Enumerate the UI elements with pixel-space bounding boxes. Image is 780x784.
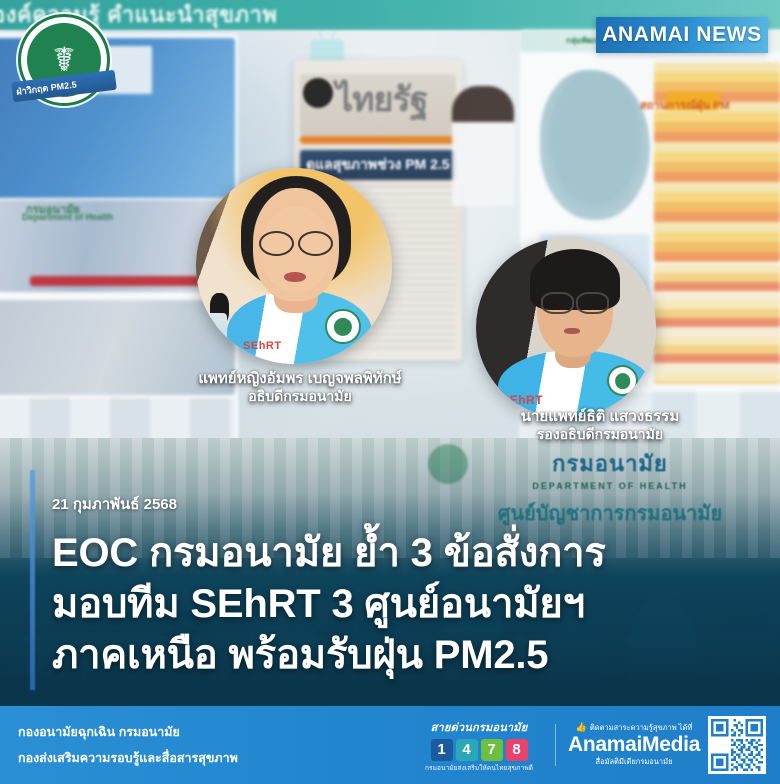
media-subtitle: สื่อมัลติมีเดียกรมอนามัย xyxy=(568,756,700,768)
headline-line-3: ภาคเหนือ พร้อมรับฝุ่น PM2.5 xyxy=(52,630,712,681)
hotline-subtitle: กรมอนามัยส่งเสริมให้คนไทยสุขภาพดี xyxy=(417,763,541,773)
hotline-digit-4: 8 xyxy=(506,739,528,761)
speaker-2-name: นายแพทย์ธิติ แสวงธรรม xyxy=(470,408,730,426)
headline-line-2: มอบทีม SEhRT 3 ศูนย์อนามัยฯ xyxy=(52,579,712,630)
speaker-2-vest-text: SEhRT xyxy=(501,393,543,407)
speaker-1-caption: แพทย์หญิงอัมพร เบญจพลพิทักษ์ อธิบดีกรมอน… xyxy=(150,370,450,405)
hotline-digit-1: 1 xyxy=(431,739,453,761)
moph-emblem: ☤ ฝ่าวิกฤต PM2.5 xyxy=(18,14,110,106)
speaker-1-title: อธิบดีกรมอนามัย xyxy=(150,388,450,405)
vest-emblem-icon xyxy=(325,309,360,344)
footer-org-line-2: กองส่งเสริมความรอบรู้และสื่อสารสุขภาพ xyxy=(18,745,238,771)
water-bottle xyxy=(204,313,228,364)
speaker-2-title: รองอธิบดีกรมอนามัย xyxy=(470,426,730,443)
glasses-icon xyxy=(259,231,333,253)
hotline-number: 1 4 7 8 xyxy=(417,739,541,761)
slide-panel-left-redbar xyxy=(30,276,205,286)
glasses-icon xyxy=(541,292,609,310)
newspaper-orange-rule xyxy=(300,136,456,144)
news-poster: องค์ความรู้ คำแนะนำสุขภาพ กรมอนามัย Depa… xyxy=(0,0,780,784)
footer-org-line-1: กองอนามัยฉุกเฉิน กรมอนามัย xyxy=(18,719,238,745)
dashboard-table-bottom xyxy=(654,264,780,384)
caduceus-icon: ☤ xyxy=(53,43,76,77)
qr-code[interactable] xyxy=(708,716,766,774)
anamai-news-label: ANAMAI NEWS xyxy=(602,23,761,47)
speaker-2-caption: นายแพทย์ธิติ แสวงธรรม รองอธิบดีกรมอนามัย xyxy=(470,408,730,443)
dashboard-pm-label: สถานการณ์ฝุ่น PM xyxy=(640,96,730,114)
hotline-digit-3: 7 xyxy=(481,739,503,761)
speaker-1-portrait: SEhRT xyxy=(196,168,392,364)
thumbs-up-icon: 👍 xyxy=(576,722,587,733)
hotline-digit-2: 4 xyxy=(456,739,478,761)
blue-accent-pillar xyxy=(30,470,35,690)
newspaper-title: ไทยรัฐ xyxy=(336,72,427,126)
headline-block: 21 กุมภาพันธ์ 2568 EOC กรมอนามัย ย้ำ 3 ข… xyxy=(52,492,712,682)
speaker-1-vest-text: SEhRT xyxy=(243,340,282,352)
newspaper-logo-icon xyxy=(303,78,333,108)
speaker-1-name: แพทย์หญิงอัมพร เบญจพลพิทักษ์ xyxy=(150,370,450,388)
anamai-news-badge: ANAMAI NEWS xyxy=(596,17,768,53)
article-headline: EOC กรมอนามัย ย้ำ 3 ข้อสั่งการ มอบทีม SE… xyxy=(52,528,712,682)
media-name: AnamaiMedia xyxy=(568,734,700,756)
speaker-2-portrait: SEhRT xyxy=(476,238,656,418)
slide-panel-left-subtitle: Department of Health xyxy=(22,212,113,222)
speaker-1-mouth xyxy=(284,272,306,282)
headline-line-1: EOC กรมอนามัย ย้ำ 3 ข้อสั่งการ xyxy=(52,528,712,579)
slide-presenter-figure xyxy=(452,86,514,206)
hotline-block[interactable]: สายด่วนกรมอนามัย 1 4 7 8 กรมอนามัยส่งเสร… xyxy=(417,718,541,773)
article-date: 21 กุมภาพันธ์ 2568 xyxy=(52,492,712,516)
footer-org-block: กองอนามัยฉุกเฉิน กรมอนามัย กองส่งเสริมคว… xyxy=(18,719,238,772)
footer-bar: กองอนามัยฉุกเฉิน กรมอนามัย กองส่งเสริมคว… xyxy=(0,706,780,784)
anamai-media-block[interactable]: 👍 ติดตามสาระความรู้สุขภาพ ได้ที่ AnamaiM… xyxy=(568,722,700,768)
footer-divider xyxy=(555,724,556,766)
qr-code-icon xyxy=(711,719,763,771)
hotline-title: สายด่วนกรมอนามัย xyxy=(417,718,541,736)
